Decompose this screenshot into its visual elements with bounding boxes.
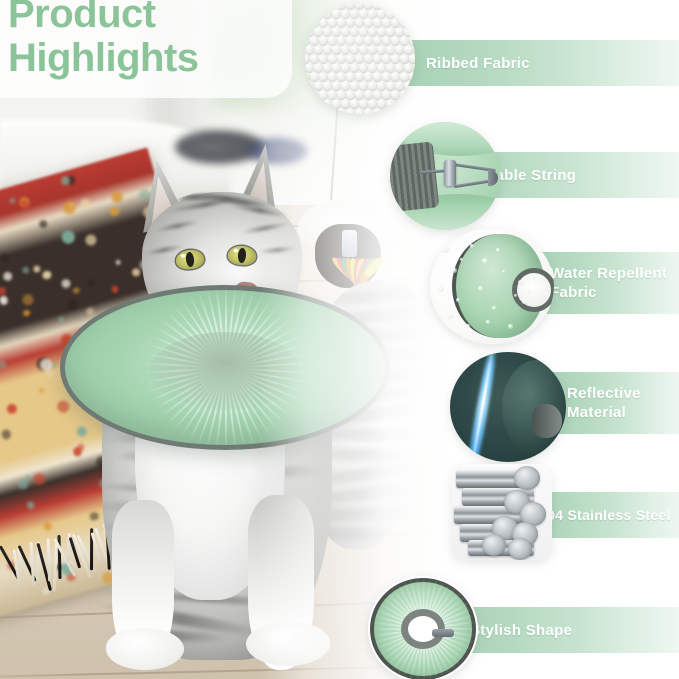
cord-loop — [488, 170, 498, 186]
feature-label-ribbed-fabric: Ribbed Fabric — [404, 54, 530, 73]
ribbed-band — [390, 141, 439, 212]
feature-image-water-repellent-fabric — [430, 228, 554, 344]
title-panel: Product Highlights — [0, 0, 292, 98]
cone-rim — [532, 404, 562, 438]
title-line-2: Highlights — [8, 36, 278, 80]
feature-bar-ribbed-fabric: Ribbed Fabric — [404, 40, 679, 86]
feature-image-reflective-material — [450, 352, 566, 462]
feature-image-stylish-shape — [368, 576, 478, 679]
cone-neck-opening — [512, 268, 554, 312]
title-line-1: Product — [8, 0, 156, 36]
cat-paw-left — [106, 628, 184, 670]
feature-image-adjustable-string — [390, 122, 500, 230]
cat-pupil-left — [185, 252, 195, 268]
cord-lock-toggle — [444, 160, 456, 186]
ribbed-texture — [305, 4, 415, 114]
page-title: Product Highlights — [8, 0, 278, 80]
feature-bar-stylish-shape: Stylish Shape — [448, 607, 679, 653]
cat-pupil-right — [237, 248, 246, 264]
feature-image-ribbed-fabric — [305, 4, 415, 114]
product-highlights-poster: Product Highlights Ribbed Fabric Adjusta… — [0, 0, 679, 679]
collar-clip — [432, 629, 454, 637]
feature-image-stainless-steel — [452, 464, 552, 560]
